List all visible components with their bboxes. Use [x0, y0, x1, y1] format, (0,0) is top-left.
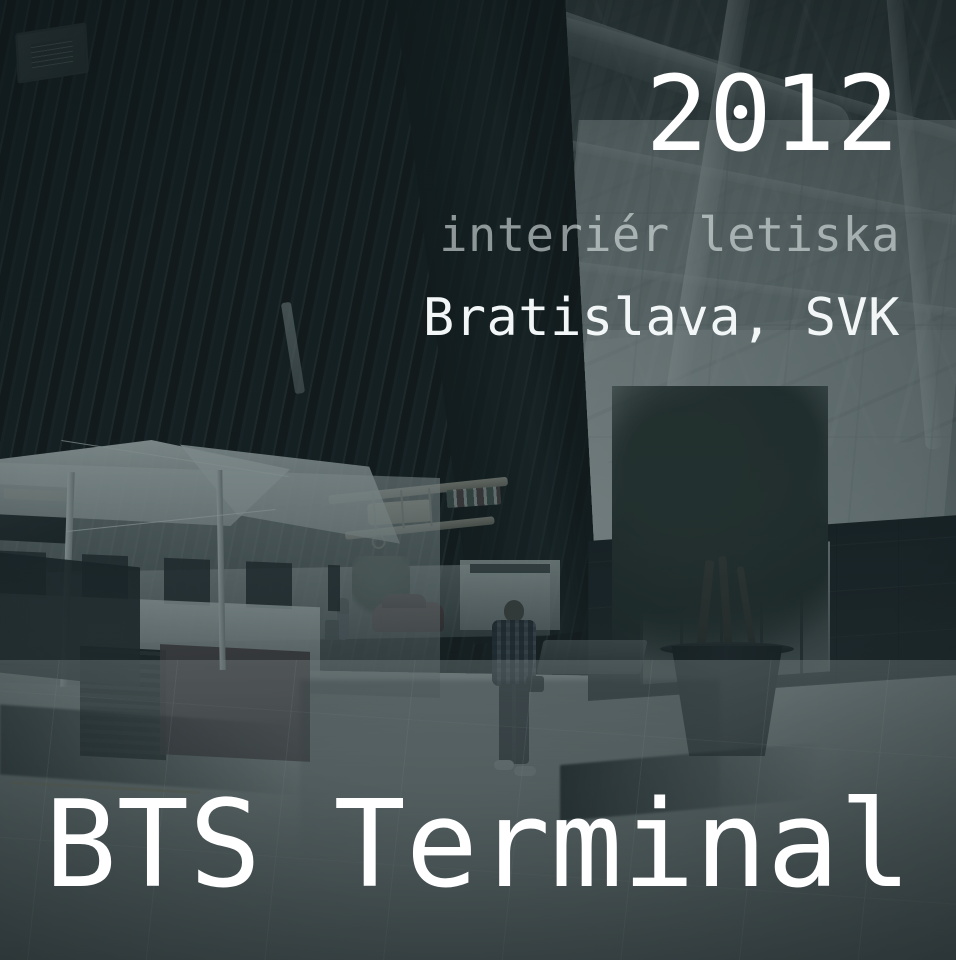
photo-card: 2012 interiér letiska Bratislava, SVK BT… — [0, 0, 956, 960]
vignette-overlay — [0, 0, 956, 960]
terminal-photograph — [0, 0, 956, 960]
